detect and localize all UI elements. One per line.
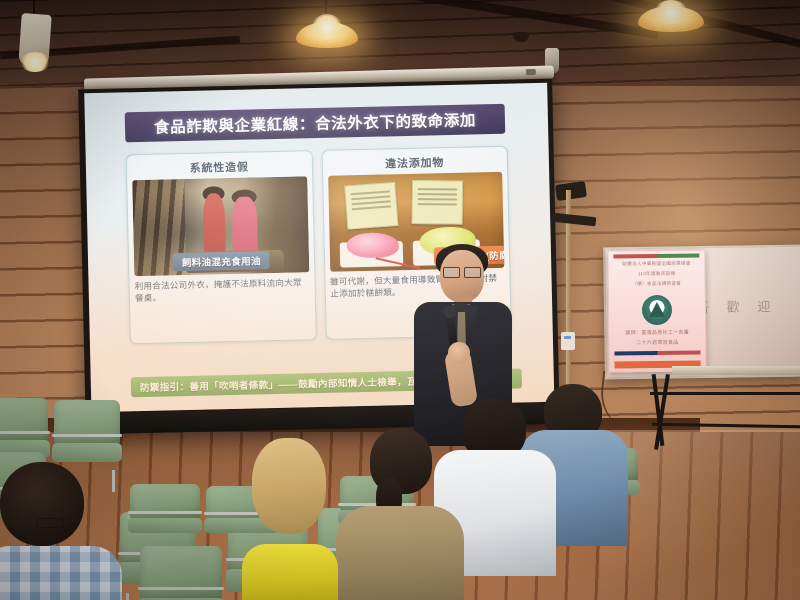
poster-header-line2: 110年度教育訓練 [616,270,698,279]
photo-worker [202,193,226,255]
attendee-torso [242,544,338,600]
card-photo-factory: 飼料油混充食用油 [132,176,309,276]
photo-sample-tag [412,180,463,225]
chair[interactable] [130,484,200,542]
presenter-hand [448,342,470,364]
organization-logo-icon [642,295,672,325]
attendee-torso [0,546,122,600]
slide-card-systemic-fraud: 系統性造假 飼料油混充食用油 利用合法公司外衣，掩護不法原料流向大眾餐桌。 [126,150,317,344]
photo-worker [232,197,258,257]
attendee-blonde-yellow-top [228,438,350,600]
whiteboard-writing: 吾 歡 迎 [696,296,777,316]
lamp-glow [20,52,50,72]
poster-header-line1: 財團法人中華民國全國商業總會 [615,260,697,269]
wall-switch[interactable] [561,332,575,350]
card-chip-label: 飼料油混充食用油 [173,251,271,271]
lamp-cord [33,0,35,14]
ceiling-beam [331,0,658,39]
lamp-glow [312,14,342,40]
photo-pink-sample [346,232,399,258]
side-table [672,366,800,375]
lamp-glow [654,0,688,24]
photo-sample-tag [344,182,398,230]
poster-title-line1: 講師：臺灣品身社工一吉書 [616,329,698,338]
lecture-hall-photo: 食品詐欺與企業紅線：合法外衣下的致命添加 系統性造假 飼料油混充食用油 [0,0,800,600]
attendee-ponytail-tan-top [340,428,460,600]
attendee-head [252,438,326,534]
roller-knob [526,69,536,75]
attendee-head [0,462,84,546]
attendee-curly-hair-plaid [0,462,126,600]
card-body-text: 利用合法公司外衣，掩護不法原料流向大眾餐桌。 [134,276,309,305]
chair[interactable] [140,546,222,600]
poster-header-line3: （續）食品法規研習會 [616,280,698,289]
glasses-icon [443,267,481,276]
slide-title: 食品詐欺與企業紅線：合法外衣下的致命添加 [125,104,506,143]
event-poster[interactable]: 財團法人中華民國全國商業總會 110年度教育訓練 （續）食品法規研習會 講師：臺… [607,249,706,372]
attendee-glasses-icon [36,518,64,528]
attendee-torso [336,506,464,600]
poster-top-bar [613,254,699,259]
whiteboard-stand-crossbar [650,392,800,395]
poster-title-line2: 二十六週環官食品 [616,339,698,348]
